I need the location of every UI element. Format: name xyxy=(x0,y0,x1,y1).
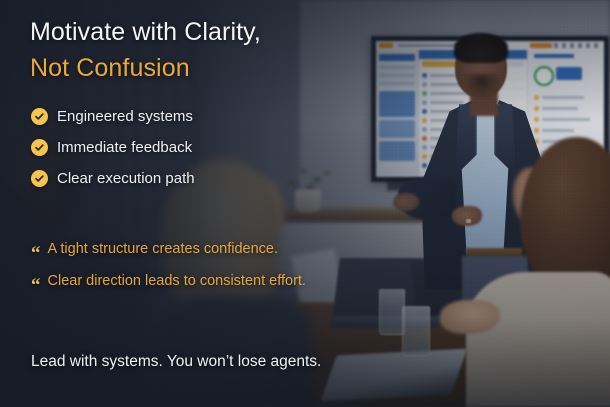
marketing-slide: Motivate with Clarity, Not Confusion Eng… xyxy=(0,0,610,407)
bullet-label: Engineered systems xyxy=(57,108,193,125)
quote-item: “ A tight structure creates confidence. xyxy=(31,241,306,260)
quote-mark-icon: “ xyxy=(31,276,40,295)
quote-list: “ A tight structure creates confidence. … xyxy=(31,241,306,305)
quote-text: A tight structure creates confidence. xyxy=(48,241,279,257)
footer-tagline: Lead with systems. You won’t lose agents… xyxy=(31,353,321,371)
headline-line-2: Not Confusion xyxy=(30,53,370,84)
bullet-label: Clear execution path xyxy=(57,170,195,187)
bullet-item: Immediate feedback xyxy=(31,139,195,156)
bullet-list: Engineered systems Immediate feedback Cl… xyxy=(31,108,195,201)
check-circle-icon xyxy=(31,170,48,187)
quote-mark-icon: “ xyxy=(31,244,40,263)
check-circle-icon xyxy=(31,139,48,156)
bullet-item: Clear execution path xyxy=(31,170,195,187)
check-circle-icon xyxy=(31,108,48,125)
slide-content: Motivate with Clarity, Not Confusion Eng… xyxy=(0,0,610,407)
headline-line-1: Motivate with Clarity, xyxy=(30,17,370,48)
quote-text: Clear direction leads to consistent effo… xyxy=(48,273,306,289)
quote-item: “ Clear direction leads to consistent ef… xyxy=(31,273,306,292)
bullet-item: Engineered systems xyxy=(31,108,195,125)
headline: Motivate with Clarity, Not Confusion xyxy=(30,17,370,83)
bullet-label: Immediate feedback xyxy=(57,139,192,156)
